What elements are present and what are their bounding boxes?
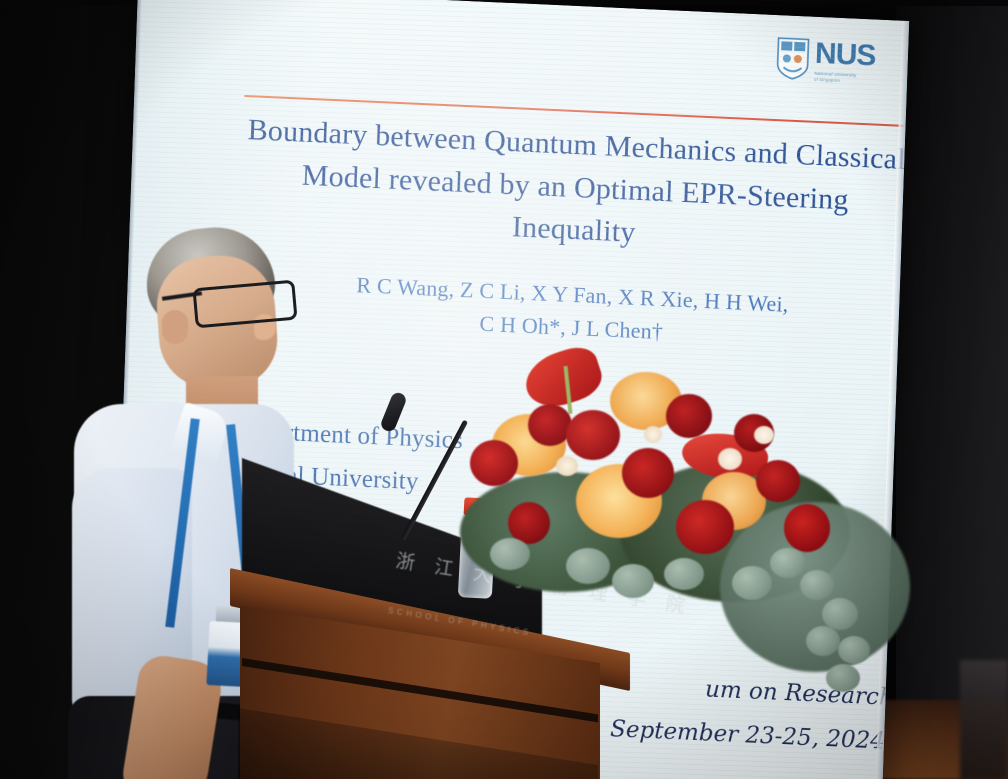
eucalyptus-leaf-9 — [612, 564, 654, 598]
presentation-photo-scene: NUS National University of Singapore Bou… — [0, 0, 1008, 779]
nus-shield-icon — [775, 37, 810, 81]
rose-4 — [622, 448, 674, 498]
flower-arrangement — [470, 352, 900, 682]
slide-authors: R C Wang, Z C Li, X Y Fan, X R Xie, H H … — [276, 265, 868, 358]
filler-flower-1 — [556, 456, 578, 476]
eucalyptus-leaf-7 — [732, 566, 772, 600]
footer-right-line2: September 23-25, 2024. — [610, 712, 893, 760]
eucalyptus-leaf-8 — [566, 548, 610, 584]
eucalyptus-leaf-2 — [800, 570, 834, 600]
filler-flower-4 — [644, 426, 662, 443]
eucalyptus-leaf-4 — [806, 626, 840, 656]
eucalyptus-leaf-3 — [822, 598, 858, 630]
nus-wordmark: NUS National University of Singapore — [814, 39, 876, 85]
filler-flower-3 — [754, 426, 774, 444]
rose-8 — [784, 504, 830, 552]
rose-3 — [566, 410, 620, 460]
eucalyptus-leaf-1 — [770, 548, 806, 578]
slide-title: Boundary between Quantum Mechanics and C… — [237, 109, 909, 267]
eucalyptus-leaf-6 — [826, 664, 860, 692]
eucalyptus-leaf-5 — [838, 636, 870, 664]
rose-5 — [666, 394, 712, 438]
filler-flower-2 — [718, 448, 742, 470]
nus-logo: NUS National University of Singapore — [774, 37, 896, 108]
back-wall-panel — [960, 660, 1008, 779]
rose-2 — [528, 404, 572, 446]
glasses-icon — [192, 280, 297, 329]
speaker-ear — [162, 310, 188, 344]
anthurium-flower-left — [519, 342, 607, 415]
eucalyptus-leaf-10 — [664, 558, 704, 590]
rose-1 — [470, 440, 518, 486]
nus-wordmark-text: NUS — [815, 39, 876, 72]
eucalyptus-leaf-11 — [490, 538, 530, 570]
rose-6 — [676, 500, 734, 554]
rose-7 — [756, 460, 800, 502]
